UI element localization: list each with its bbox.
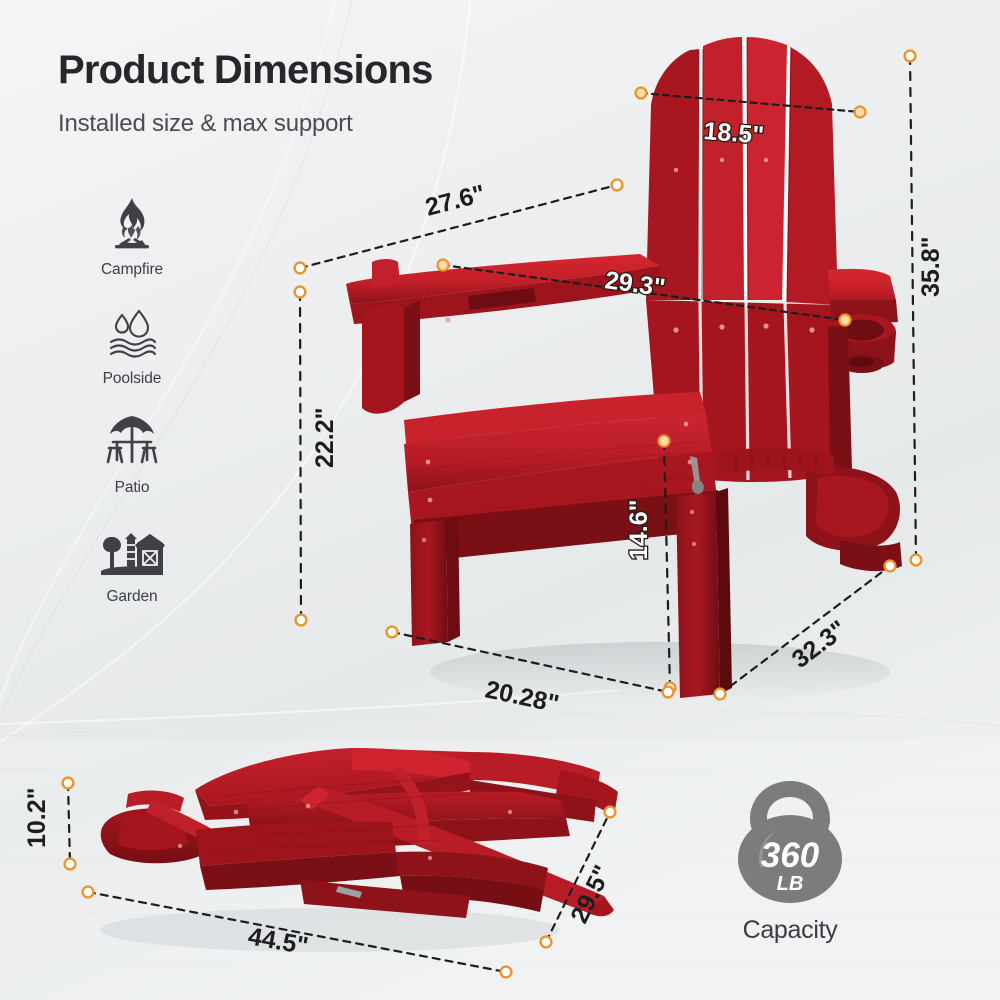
dim-label-base-depth: 32.3" — [787, 615, 852, 674]
dim-label-seat-height: 14.6" — [625, 499, 653, 560]
dim-line-arm-height — [300, 292, 301, 620]
feature-item-patio: Patio — [72, 414, 192, 497]
capacity-unit: LB — [777, 873, 804, 895]
dim-label-back-width: 18.5" — [703, 117, 766, 150]
page-subtitle: Installed size & max support — [58, 110, 433, 138]
dim-line-total-height — [910, 56, 916, 560]
dim-label-arm-depth: 27.6" — [422, 180, 488, 222]
feature-item-poolside: Poolside — [72, 305, 192, 388]
capacity-label: Capacity — [690, 916, 890, 945]
feature-label: Poolside — [72, 370, 192, 388]
dim-line-back-width — [641, 93, 860, 112]
campfire-icon — [72, 196, 192, 252]
dim-label-folded-length: 44.5" — [246, 922, 310, 960]
page-title: Product Dimensions — [58, 50, 433, 90]
kettlebell-icon: 360 LB — [690, 775, 890, 907]
patio-umbrella-table-icon — [72, 414, 192, 470]
feature-label: Patio — [72, 479, 192, 497]
feature-label: Garden — [72, 588, 192, 606]
dim-label-folded-depth: 29.5" — [565, 861, 617, 928]
feature-item-garden: Garden — [72, 523, 192, 606]
header-block: Product Dimensions Installed size & max … — [58, 50, 433, 138]
dim-label-base-width: 20.28" — [483, 675, 562, 718]
dim-line-base-depth — [720, 566, 890, 694]
dim-line-seat-height — [664, 441, 670, 688]
feature-item-campfire: Campfire — [72, 196, 192, 279]
capacity-badge: 360 LB Capacity — [690, 775, 890, 945]
dim-line-base-width — [392, 632, 668, 692]
feature-label: Campfire — [72, 261, 192, 279]
barn-tree-icon — [72, 523, 192, 579]
dim-line-folded-height — [68, 783, 70, 864]
dim-label-arm-height: 22.2" — [311, 407, 339, 468]
dim-label-folded-height: 10.2" — [23, 787, 51, 848]
capacity-amount: 360 — [761, 836, 820, 875]
feature-list: Campfire Poolside — [72, 196, 192, 632]
dim-label-seat-span: 29.3" — [603, 266, 667, 302]
water-drops-icon — [72, 305, 192, 361]
dim-label-total-height: 35.8" — [917, 236, 945, 297]
